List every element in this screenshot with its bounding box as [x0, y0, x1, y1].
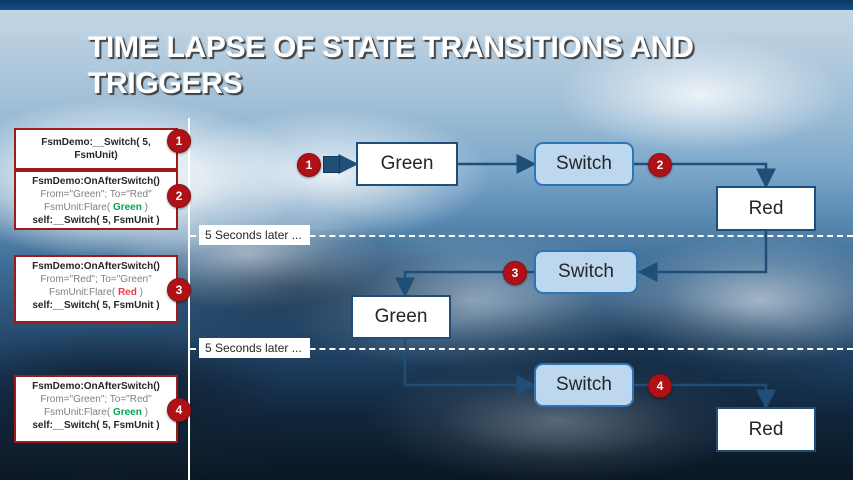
timeline-label-1: 5 Seconds later ...	[199, 225, 310, 245]
node-red-2[interactable]: Red	[716, 407, 816, 452]
node-green-1[interactable]: Green	[356, 142, 458, 186]
slide-canvas: TIME LAPSE OF STATE TRANSITIONS AND TRIG…	[0, 0, 853, 480]
node-red-1[interactable]: Red	[716, 186, 816, 231]
diagram-badge-1: 1	[297, 153, 321, 177]
node-switch-2[interactable]: Switch	[534, 250, 638, 294]
code-badge-1: 1	[167, 129, 191, 153]
node-switch-1[interactable]: Switch	[534, 142, 634, 186]
code-badge-4: 4	[167, 398, 191, 422]
code-badge-3: 3	[167, 278, 191, 302]
timeline-label-2: 5 Seconds later ...	[199, 338, 310, 358]
start-state-marker-icon	[323, 156, 340, 173]
node-switch-3[interactable]: Switch	[534, 363, 634, 407]
diagram-badge-4: 4	[648, 374, 672, 398]
diagram-badge-2: 2	[648, 153, 672, 177]
code-badge-2: 2	[167, 184, 191, 208]
diagram-badge-3: 3	[503, 261, 527, 285]
node-green-2[interactable]: Green	[351, 295, 451, 339]
